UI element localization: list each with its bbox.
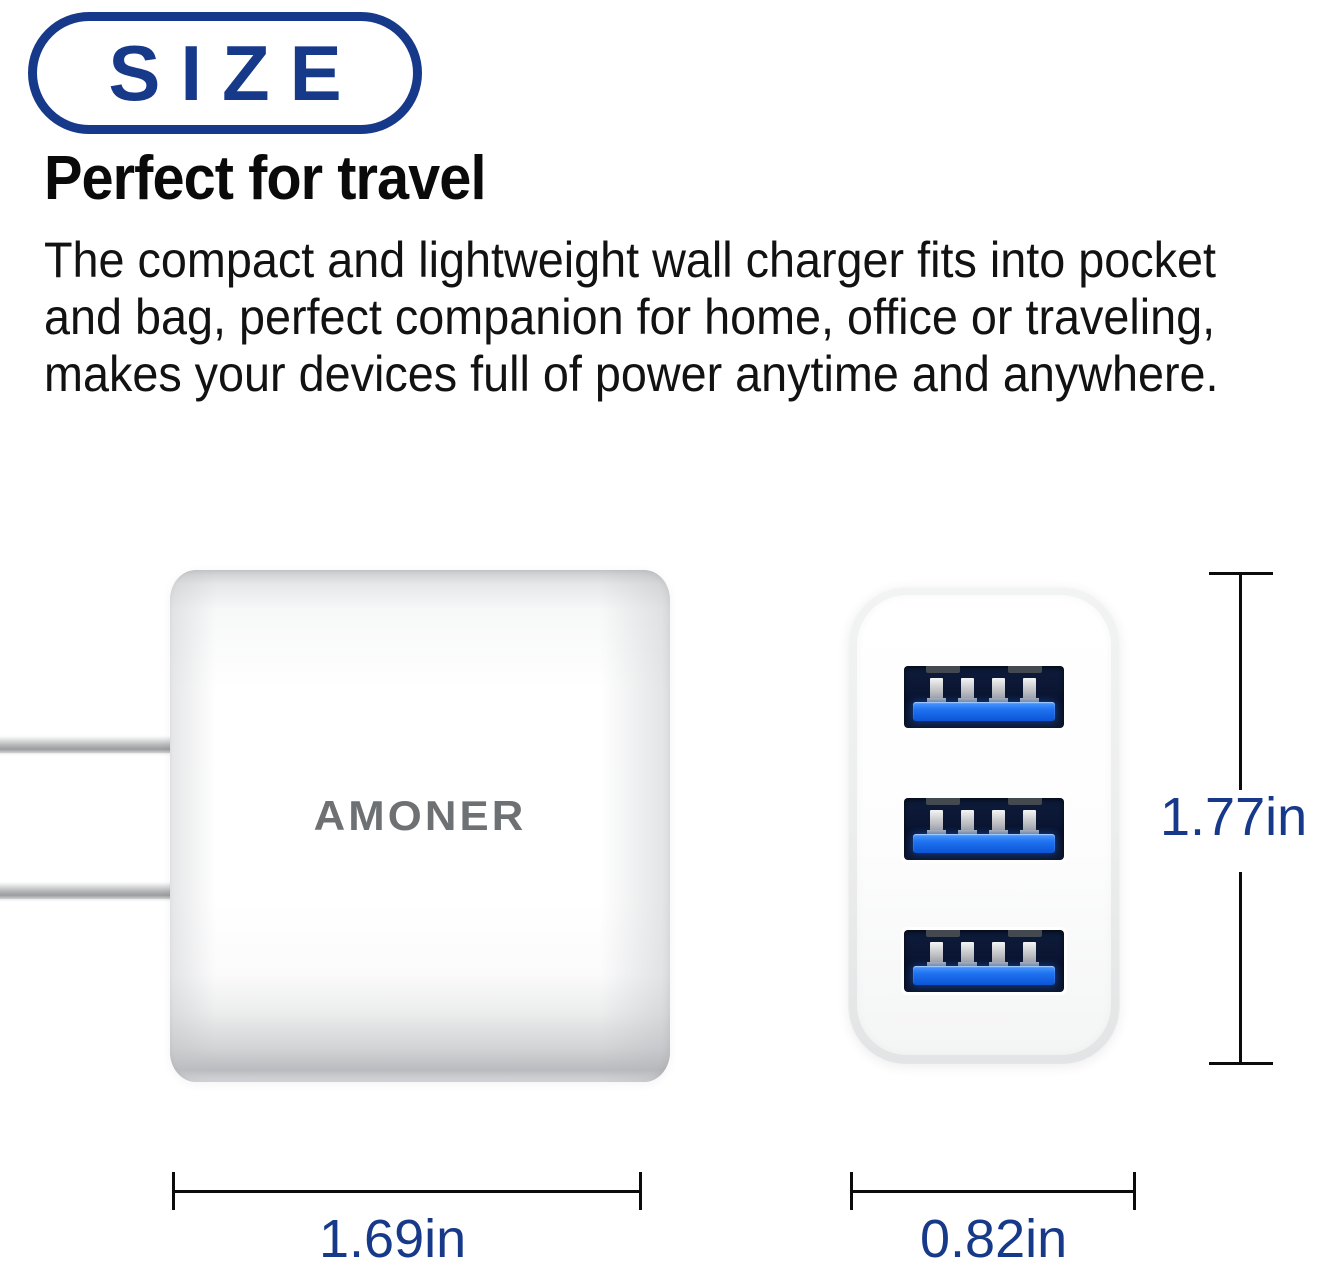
usb-port-3 [904, 930, 1064, 992]
usb-tongue [913, 834, 1055, 853]
ac-prong-bottom [0, 882, 172, 899]
dimension-line-front-width [172, 1190, 642, 1193]
usb-notch [926, 666, 960, 673]
dimension-cap-left [850, 1172, 853, 1210]
charger-side-face [857, 595, 1111, 1055]
usb-pin [1023, 942, 1036, 968]
usb-pin [961, 942, 974, 968]
usb-pin [961, 678, 974, 704]
charger-front-view: AMONER [170, 570, 670, 1082]
usb-pin [930, 942, 943, 968]
size-badge-label: SIZE [88, 34, 361, 112]
usb-notch [926, 798, 960, 805]
usb-tongue [913, 702, 1055, 721]
dimension-cap-left [172, 1172, 175, 1210]
usb-notch [1008, 666, 1042, 673]
description-paragraph: The compact and lightweight wall charger… [44, 232, 1222, 403]
size-badge: SIZE [28, 12, 422, 134]
usb-pin [992, 942, 1005, 968]
brand-logo: AMONER [160, 792, 680, 840]
usb-port-2 [904, 798, 1064, 860]
usb-port-1 [904, 666, 1064, 728]
usb-tongue [913, 966, 1055, 985]
charger-front-shading [170, 570, 670, 1082]
usb-pin [1023, 678, 1036, 704]
usb-notch [1008, 798, 1042, 805]
dimension-line-side-width [850, 1190, 1136, 1193]
product-size-infographic: SIZE Perfect for travel The compact and … [0, 0, 1324, 1264]
usb-pin [930, 678, 943, 704]
usb-pin [992, 678, 1005, 704]
usb-pin [961, 810, 974, 836]
dimension-cap-right [1133, 1172, 1136, 1210]
dimension-label-front-width: 1.69in [319, 1212, 466, 1264]
usb-pin [992, 810, 1005, 836]
usb-pin [1023, 810, 1036, 836]
usb-pin [930, 810, 943, 836]
dimension-line-height-lower [1239, 872, 1242, 1065]
charger-side-shell [848, 586, 1120, 1064]
dimension-label-side-width: 0.82in [920, 1212, 1067, 1264]
charger-front-body [170, 570, 670, 1082]
page-title: Perfect for travel [44, 146, 486, 211]
dimension-label-height: 1.77in [1160, 790, 1307, 844]
dimension-line-height-upper [1239, 572, 1242, 790]
usb-notch [1008, 930, 1042, 937]
usb-notch [926, 930, 960, 937]
dimension-cap-right [639, 1172, 642, 1210]
ac-prong-top [0, 736, 172, 753]
charger-side-view [848, 586, 1120, 1064]
